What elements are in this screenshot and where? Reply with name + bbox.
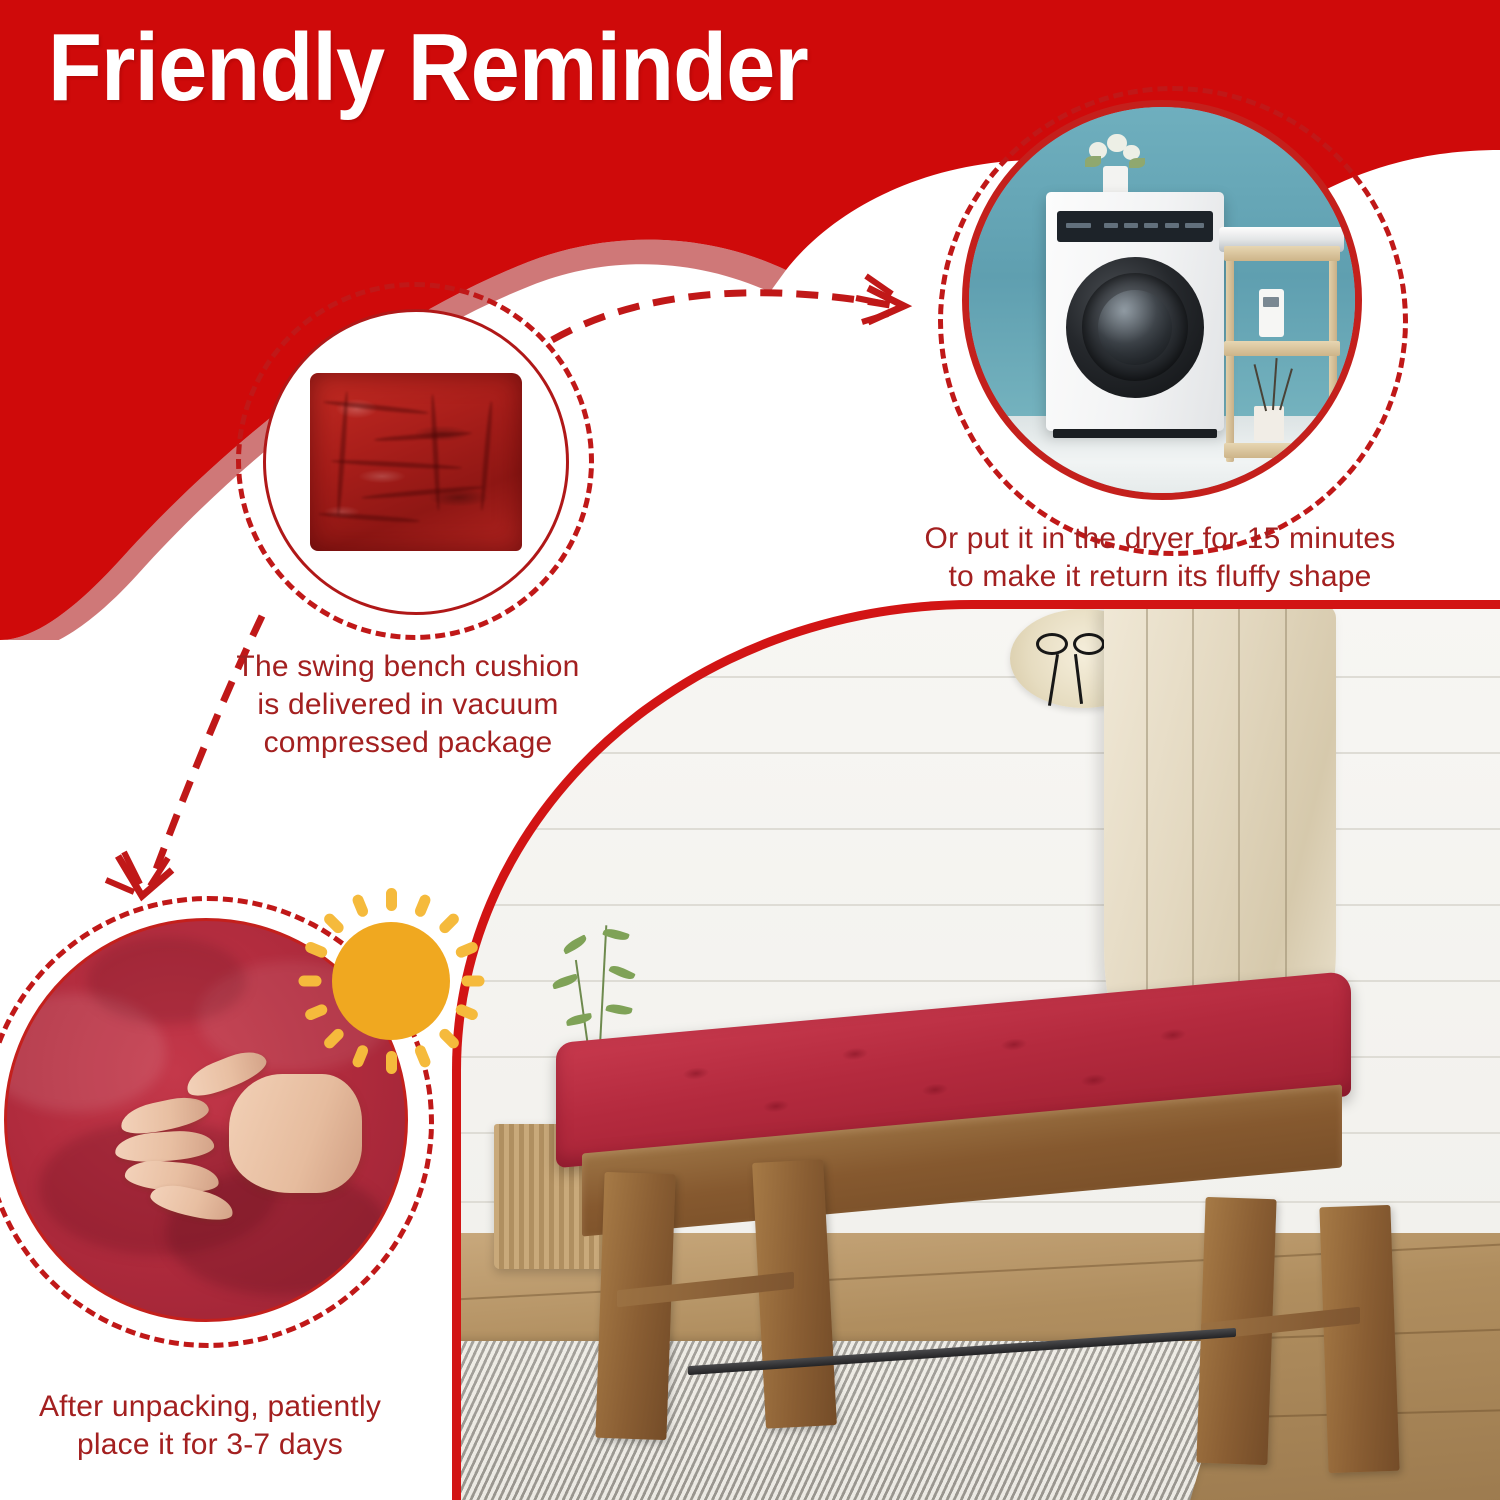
vacuum-compressed-cushion-icon [310,373,522,551]
dryer-caption-line-2: to make it return its fluffy shape [880,558,1440,596]
rest-days-caption-line-2: place it for 3-7 days [0,1426,420,1464]
bench-leg [752,1159,837,1428]
dashed-arrow-icon [552,293,890,340]
rest-days-caption-line-1: After unpacking, patiently [0,1388,420,1426]
cushion-fold [87,937,246,1025]
wooden-bench [547,1007,1431,1423]
package-caption-line-2: is delivered in vacuum [198,686,618,724]
package-caption-line-3: compressed package [198,724,618,762]
package-inner-circle [263,309,569,615]
wooden-shelf [1224,246,1340,462]
bench-leg [1320,1205,1400,1473]
hat-ribbon-bow [1073,633,1105,655]
arrowhead [118,856,172,896]
dryer-caption-line-1: Or put it in the dryer for 15 minutes [880,520,1440,558]
bench-leg [595,1172,675,1440]
front-load-dryer [1046,192,1224,431]
dryer-photo-panel [938,86,1408,556]
arrowhead [868,288,904,322]
hat-ribbon-bow [1036,633,1068,655]
dryer-caption: Or put it in the dryer for 15 minutes to… [880,520,1440,596]
dryer-control-panel [1057,211,1213,242]
dryer-photo [962,100,1362,500]
dryer-door [1066,257,1204,398]
compressed-package-panel [236,282,594,640]
page-title: Friendly Reminder [48,20,808,116]
package-caption-line-1: The swing bench cushion [198,648,618,686]
package-caption: The swing bench cushion is delivered in … [198,648,618,762]
infographic-canvas: Friendly Reminder [0,0,1500,1500]
flower-vase [1085,130,1147,196]
rest-days-caption: After unpacking, patiently place it for … [0,1388,420,1464]
sun-icon [296,886,486,1076]
